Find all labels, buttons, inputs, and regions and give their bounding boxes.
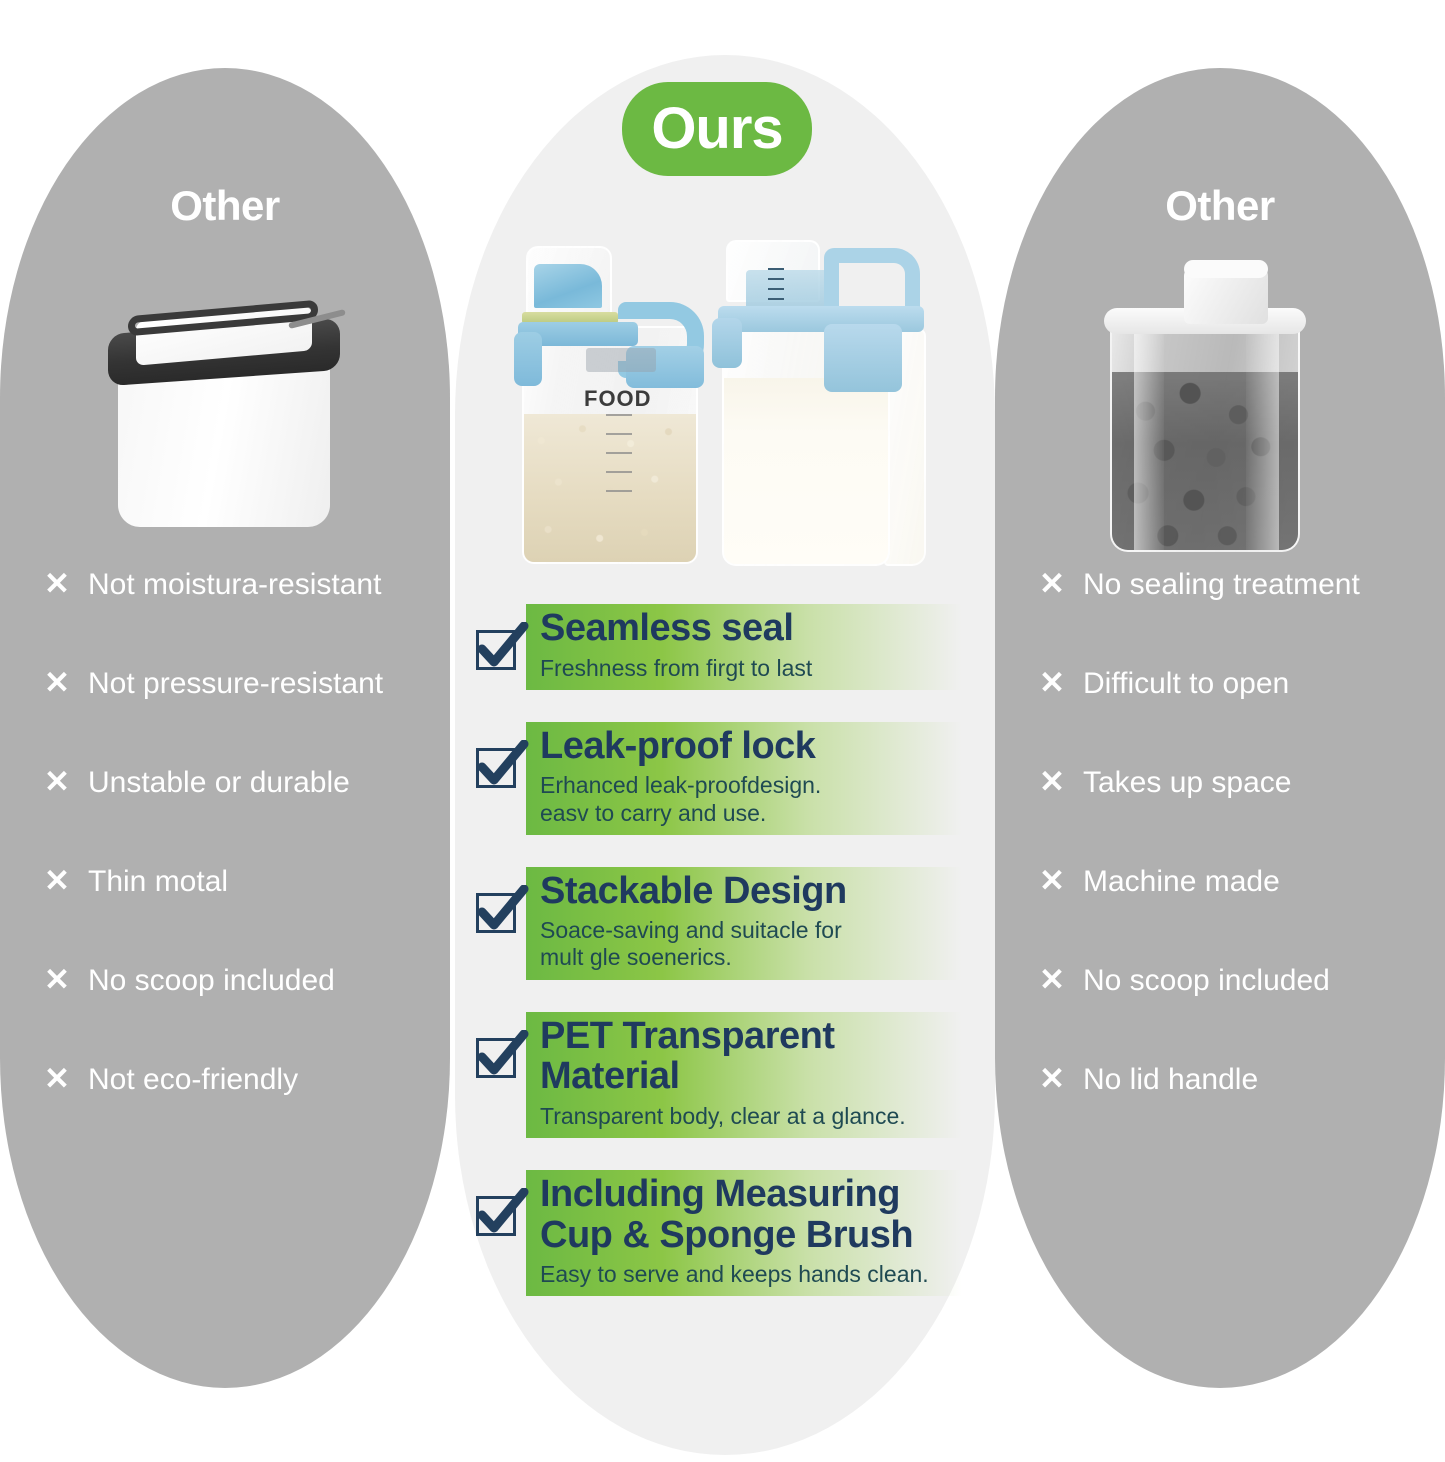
feature-row: Stackable Design Soace-saving and suitac…	[470, 867, 980, 980]
list-item-label: Machine made	[1083, 867, 1280, 897]
spacer	[470, 835, 980, 867]
feature-title: Seamless seal	[540, 608, 980, 649]
checkbox-checked-icon	[470, 1188, 526, 1244]
feature-body: Leak-proof lock Erhanced leak-proofdesig…	[526, 722, 980, 835]
container-b-handle	[824, 248, 920, 314]
feature-row: PET Transparent Material Transparent bod…	[470, 1012, 980, 1138]
feature-body: Including Measuring Cup & Sponge Brush E…	[526, 1170, 980, 1296]
clear-jar-with-beans-icon	[1090, 258, 1330, 558]
list-item: ✕ No sealing treatment	[995, 568, 1445, 667]
feature-subtitle: Easy to serve and keeps hands clean.	[540, 1261, 980, 1288]
list-item-label: No scoop included	[1083, 966, 1330, 996]
x-icon: ✕	[44, 1063, 88, 1094]
list-item: ✕ Machine made	[995, 865, 1445, 964]
feature-subtitle: Soace-saving and suitacle for mult gle s…	[540, 917, 980, 971]
jar-gloss-left	[1134, 322, 1164, 550]
checkbox-checked-icon	[470, 622, 526, 678]
cons-list-right: ✕ No sealing treatment ✕ Difficult to op…	[995, 568, 1445, 1162]
jar-gloss-right	[1246, 322, 1279, 550]
white-storage-bin-icon	[100, 290, 350, 540]
x-icon: ✕	[44, 964, 88, 995]
measurement-scale	[606, 414, 646, 509]
feature-band: Stackable Design Soace-saving and suitac…	[526, 867, 980, 980]
column-right-title: Other	[995, 182, 1445, 230]
comparison-infographic: Other ✕ Not moistura-resistant ✕ Not pre…	[0, 0, 1445, 1462]
list-item: ✕ Not pressure-resistant	[0, 667, 450, 766]
list-item: ✕ Not eco-friendly	[0, 1063, 450, 1162]
list-item-label: Not pressure-resistant	[88, 669, 383, 699]
x-icon: ✕	[1039, 766, 1083, 797]
list-item-label: No scoop included	[88, 966, 335, 996]
list-item-label: Unstable or durable	[88, 768, 350, 798]
spacer	[470, 980, 980, 1012]
spacer	[470, 690, 980, 722]
cons-list-left: ✕ Not moistura-resistant ✕ Not pressure-…	[0, 568, 450, 1162]
feature-band: Seamless seal Freshness from firgt to la…	[526, 604, 980, 690]
features-list: Seamless seal Freshness from firgt to la…	[470, 604, 980, 1296]
feature-subtitle: Transparent body, clear at a glance.	[540, 1103, 980, 1130]
ours-badge: Ours	[622, 82, 812, 176]
x-icon: ✕	[44, 568, 88, 599]
measuring-cup-icon	[726, 240, 820, 302]
list-item: ✕ Difficult to open	[995, 667, 1445, 766]
list-item-label: Not moistura-resistant	[88, 570, 381, 600]
checkbox-checked-icon	[470, 885, 526, 941]
feature-band: PET Transparent Material Transparent bod…	[526, 1012, 980, 1138]
feature-row: Including Measuring Cup & Sponge Brush E…	[470, 1170, 980, 1296]
x-icon: ✕	[1039, 568, 1083, 599]
x-icon: ✕	[1039, 667, 1083, 698]
jar-body	[1110, 320, 1300, 552]
feature-body: Stackable Design Soace-saving and suitac…	[526, 867, 980, 980]
list-item: ✕ No scoop included	[995, 964, 1445, 1063]
list-item: ✕ No scoop included	[0, 964, 450, 1063]
food-label: FOOD	[584, 386, 652, 412]
rice-container-with-scoop-icon: FOOD	[508, 228, 718, 568]
list-item: ✕ Unstable or durable	[0, 766, 450, 865]
feature-row: Leak-proof lock Erhanced leak-proofdesig…	[470, 722, 980, 835]
feature-subtitle: Freshness from firgt to last	[540, 655, 980, 682]
list-item-label: No sealing treatment	[1083, 570, 1360, 600]
container-b-clip-right	[824, 324, 902, 392]
x-icon: ✕	[44, 865, 88, 896]
container-a-inner-lid	[586, 348, 656, 372]
feature-body: Seamless seal Freshness from firgt to la…	[526, 604, 980, 690]
column-left-title: Other	[0, 182, 450, 230]
x-icon: ✕	[1039, 865, 1083, 896]
flour-fill	[724, 378, 888, 564]
feature-title: Stackable Design	[540, 871, 980, 912]
feature-subtitle: Erhanced leak-proofdesign. easv to carry…	[540, 772, 980, 826]
container-b-clip-left	[712, 318, 742, 368]
ours-badge-label: Ours	[651, 100, 782, 158]
list-item-label: No lid handle	[1083, 1065, 1258, 1095]
list-item: ✕ Not moistura-resistant	[0, 568, 450, 667]
x-icon: ✕	[1039, 964, 1083, 995]
x-icon: ✕	[1039, 1063, 1083, 1094]
measuring-cup-ticks	[768, 268, 784, 308]
list-item-label: Thin motal	[88, 867, 228, 897]
feature-body: PET Transparent Material Transparent bod…	[526, 1012, 980, 1138]
list-item: ✕ No lid handle	[995, 1063, 1445, 1162]
feature-row: Seamless seal Freshness from firgt to la…	[470, 604, 980, 690]
list-item-label: Not eco-friendly	[88, 1065, 298, 1095]
container-a-clip-left	[514, 332, 542, 386]
feature-title: PET Transparent Material	[540, 1016, 980, 1097]
list-item-label: Difficult to open	[1083, 669, 1289, 699]
flour-container-with-measuring-cup-icon	[712, 228, 930, 568]
feature-band: Including Measuring Cup & Sponge Brush E…	[526, 1170, 980, 1296]
list-item: ✕ Thin motal	[0, 865, 450, 964]
feature-title: Leak-proof lock	[540, 726, 980, 767]
list-item-label: Takes up space	[1083, 768, 1291, 798]
list-item: ✕ Takes up space	[995, 766, 1445, 865]
x-icon: ✕	[44, 766, 88, 797]
x-icon: ✕	[44, 667, 88, 698]
jar-spout-top	[1184, 260, 1268, 278]
feature-band: Leak-proof lock Erhanced leak-proofdesig…	[526, 722, 980, 835]
checkbox-checked-icon	[470, 740, 526, 796]
checkbox-checked-icon	[470, 1030, 526, 1086]
scoop-icon	[534, 264, 602, 308]
feature-title: Including Measuring Cup & Sponge Brush	[540, 1174, 980, 1255]
spacer	[470, 1138, 980, 1170]
